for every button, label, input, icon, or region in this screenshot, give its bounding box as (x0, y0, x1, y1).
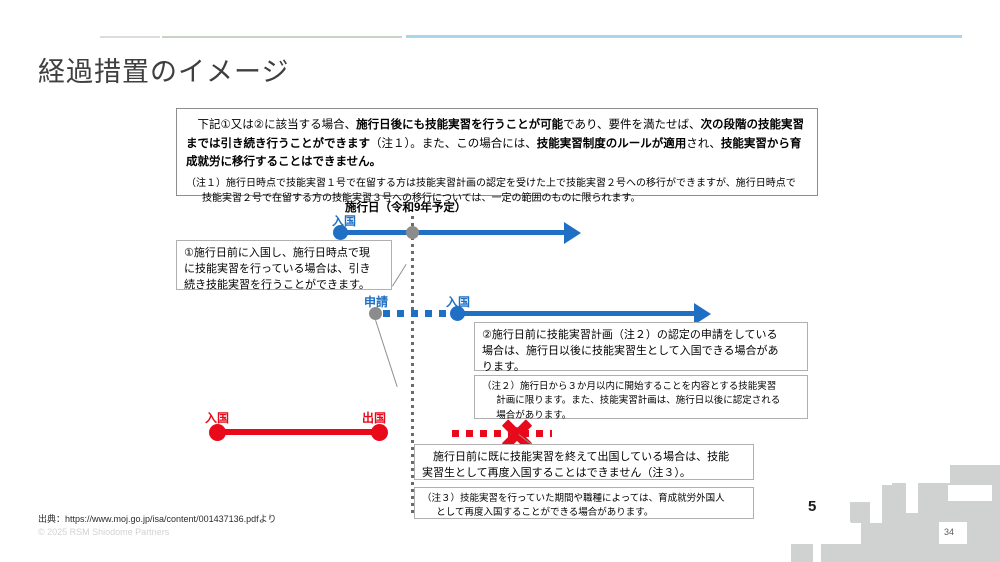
corner-block (850, 502, 870, 522)
callout-one-line-1: ①施行日前に入国し、施行日時点で現 (184, 246, 384, 262)
slide-canvas: 経過措置のイメージ 下記①又は②に該当する場合、施行日後にも技能実習を行うことが… (0, 0, 1000, 562)
callout-two-box: ②施行日前に技能実習計画（注２）の認定の申請をしている 場合は、施行日以後に技能… (474, 322, 808, 371)
corner-block-knockout (906, 483, 918, 513)
banner-note-1: （注１）施行日時点で技能実習１号で在留する方は技能実習計画の認定を受けた上で技能… (186, 176, 808, 207)
header-rule-blue (406, 35, 962, 38)
callout-three-line-1: 施行日前に既に技能実習を終えて出国している場合は、技能 (422, 450, 746, 466)
callout-note-3-box: （注３）技能実習を行っていた期間や職種によっては、育成就労外国人 として再度入国… (414, 487, 754, 519)
effective-date-label: 施行日（令和9年予定） (345, 199, 466, 215)
callout-two-line-1: ②施行日前に技能実習計画（注２）の認定の申請をしている (482, 328, 800, 344)
row1-effective-date-dot (406, 226, 419, 239)
row2-dashed-segment (383, 310, 453, 317)
corner-block-knockout (815, 544, 821, 562)
corner-block (791, 544, 813, 562)
page-title: 経過措置のイメージ (38, 50, 289, 89)
header-rule-gray (100, 36, 160, 38)
corner-block (861, 520, 1000, 562)
row3-exit-dot (371, 424, 388, 441)
corner-block-knockout (870, 503, 882, 523)
banner-text-b: 施行日後にも技能実習を行うことが可能 (356, 119, 563, 131)
banner-note-1-line-2: 技能実習２号で在留する方の技能実習３号への移行については、一定の範囲のものに限ら… (186, 191, 808, 207)
callout-one-line-3: 続き技能実習を行うことができます。 (184, 278, 384, 294)
banner-text-f: 技能実習制度のルールが適用 (537, 138, 687, 150)
banner-note-1-line-1: （注１）施行日時点で技能実習１号で在留する方は技能実習計画の認定を受けた上で技能… (186, 178, 796, 189)
row1-axis-line (340, 230, 566, 235)
callout-three-box: 施行日前に既に技能実習を終えて出国している場合は、技能 実習生として再度入国する… (414, 444, 754, 480)
row2-apply-dot (369, 307, 382, 320)
row3-exit-label: 出国 (362, 409, 386, 426)
banner-text-g: され、 (686, 138, 721, 150)
banner-paragraph: 下記①又は②に該当する場合、施行日後にも技能実習を行うことが可能であり、要件を満… (186, 116, 808, 172)
callout-note-2-line-1: （注２）施行日から３か月以内に開始することを内容とする技能実習 (482, 380, 800, 394)
copyright-notice: © 2025 RSM Shiodome Partners (38, 527, 169, 537)
callout-three-line-2: 実習生として再度入国することはできません（注３）。 (422, 466, 746, 482)
slide-number: 5 (808, 498, 816, 515)
callout-note-3-line-1: （注３）技能実習を行っていた期間や職種によっては、育成就労外国人 (422, 492, 746, 506)
callout-note-3-line-2: として再度入国することができる場合があります。 (422, 506, 746, 520)
callout-two-line-2: 場合は、施行日以後に技能実習生として入国できる場合があ (482, 344, 800, 360)
source-citation: 出典：https://www.moj.go.jp/isa/content/001… (38, 512, 276, 525)
callout-note-2-line-2: 計画に限ります。また、技能実習計画は、施行日以後に認定される (482, 394, 800, 408)
callout-one-box: ①施行日前に入国し、施行日時点で現 に技能実習を行っている場合は、引き 続き技能… (176, 240, 392, 290)
header-rule-green (162, 36, 402, 38)
row3-axis-line (216, 429, 378, 435)
row2-apply-leader-line (375, 320, 398, 387)
callout-note-2-box: （注２）施行日から３か月以内に開始することを内容とする技能実習 計画に限ります。… (474, 375, 808, 419)
banner-text-c: であり、要件を満たせば、 (563, 119, 700, 131)
banner-text-e: （注１）。また、この場合には、 (370, 138, 537, 150)
banner-text-a: 下記①又は②に該当する場合、 (186, 119, 356, 131)
summary-banner-box: 下記①又は②に該当する場合、施行日後にも技能実習を行うことが可能であり、要件を満… (176, 108, 818, 196)
row1-arrowhead-icon (564, 222, 581, 244)
callout-two-line-3: ります。 (482, 360, 800, 376)
corner-page-number: 34 (944, 527, 954, 537)
callout-one-line-2: に技能実習を行っている場合は、引き (184, 262, 384, 278)
callout-one-leader-line (392, 264, 407, 287)
row2-axis-line (458, 311, 696, 316)
corner-block-knockout (948, 485, 992, 501)
